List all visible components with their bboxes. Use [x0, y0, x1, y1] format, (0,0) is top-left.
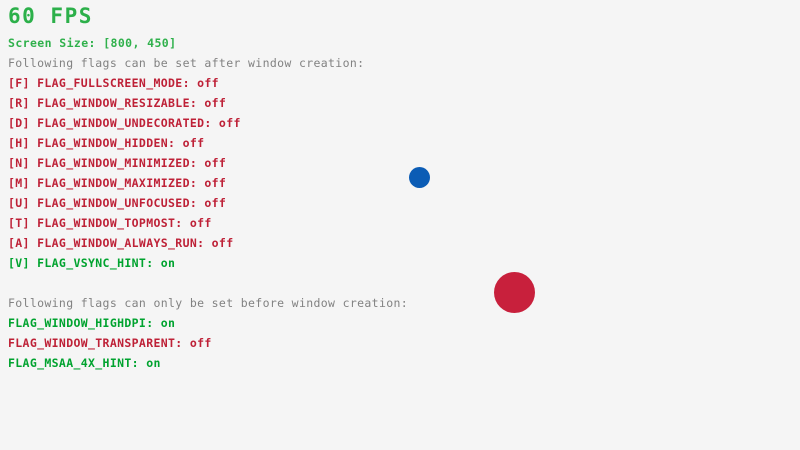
flag-row-window-unfocused[interactable]: [U] FLAG_WINDOW_UNFOCUSED: off	[8, 198, 226, 210]
section-header-before-creation: Following flags can only be set before w…	[8, 298, 408, 310]
flag-row-window-resizable[interactable]: [R] FLAG_WINDOW_RESIZABLE: off	[8, 98, 226, 110]
flag-row-window-hidden[interactable]: [H] FLAG_WINDOW_HIDDEN: off	[8, 138, 204, 150]
screen-size-label: Screen Size: [800, 450]	[8, 38, 176, 50]
flag-row-window-transparent: FLAG_WINDOW_TRANSPARENT: off	[8, 338, 212, 350]
raylib-window-canvas[interactable]: 60 FPS Screen Size: [800, 450] Following…	[0, 0, 800, 450]
flag-row-window-topmost[interactable]: [T] FLAG_WINDOW_TOPMOST: off	[8, 218, 212, 230]
bouncing-ball-red	[494, 272, 535, 313]
fps-counter: 60 FPS	[8, 6, 93, 27]
flag-row-window-maximized[interactable]: [M] FLAG_WINDOW_MAXIMIZED: off	[8, 178, 226, 190]
flag-row-fullscreen-mode[interactable]: [F] FLAG_FULLSCREEN_MODE: off	[8, 78, 219, 90]
flag-row-window-highdpi: FLAG_WINDOW_HIGHDPI: on	[8, 318, 175, 330]
flag-row-vsync-hint[interactable]: [V] FLAG_VSYNC_HINT: on	[8, 258, 175, 270]
flag-row-window-minimized[interactable]: [N] FLAG_WINDOW_MINIMIZED: off	[8, 158, 226, 170]
flag-row-window-always-run[interactable]: [A] FLAG_WINDOW_ALWAYS_RUN: off	[8, 238, 233, 250]
flag-row-msaa-4x-hint: FLAG_MSAA_4X_HINT: on	[8, 358, 161, 370]
section-header-after-creation: Following flags can be set after window …	[8, 58, 364, 70]
flag-row-window-undecorated[interactable]: [D] FLAG_WINDOW_UNDECORATED: off	[8, 118, 241, 130]
bouncing-ball-blue	[409, 167, 430, 188]
